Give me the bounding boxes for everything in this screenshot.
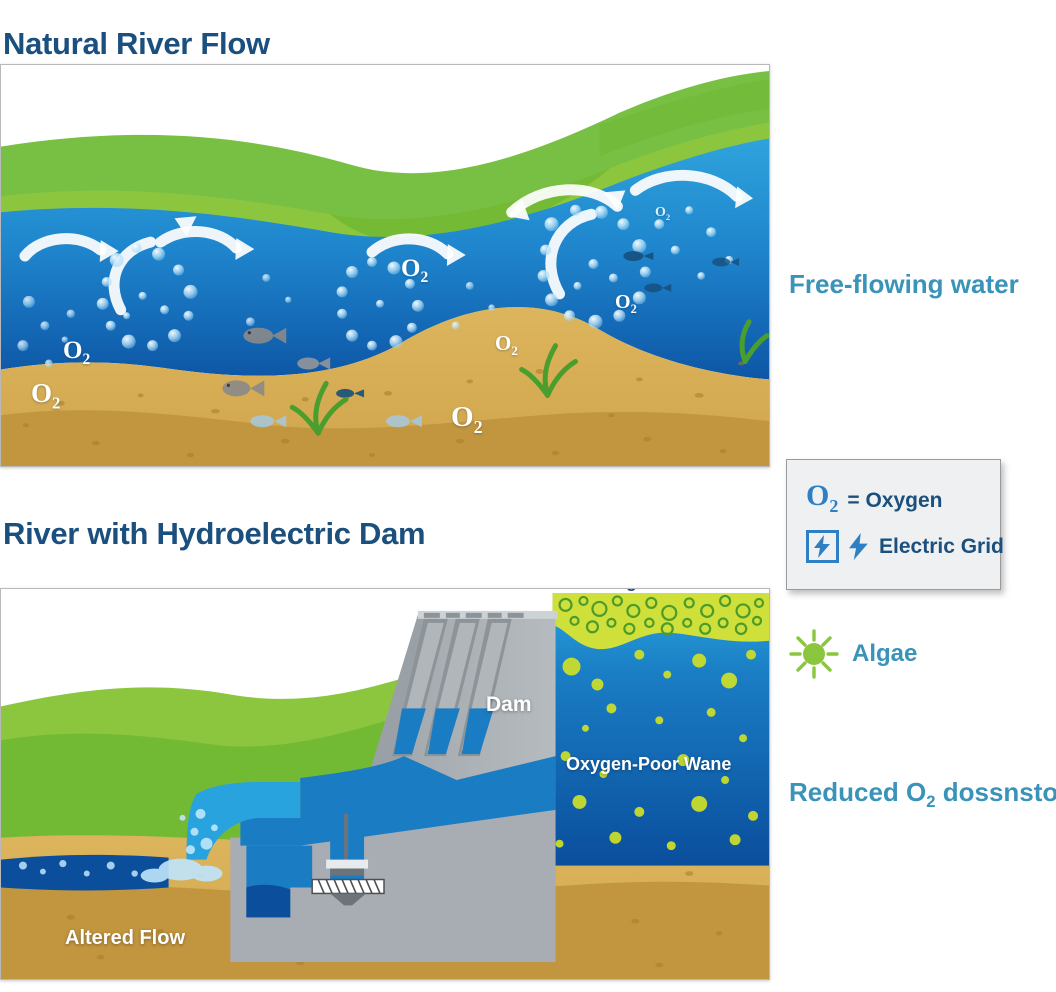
label-dam: Dam: [486, 693, 532, 717]
page-title-natural-river: Natural River Flow: [3, 26, 270, 62]
natural-river-svg: [1, 65, 769, 466]
legend-electric-grid-label: Electric Grid: [879, 535, 1004, 559]
legend-item-oxygen: O2 = Oxygen: [806, 481, 942, 521]
dam-scene-svg: [1, 589, 769, 979]
legend-algae-label: Algae: [852, 640, 917, 668]
legend-item-electric-grid: Electric Grid: [806, 530, 1004, 563]
label-algae-blooms: Algae Blooms: [608, 588, 728, 592]
label-oxygen-poor-water: Oxygen-Poor Wane: [566, 754, 731, 775]
electric-grid-box-icon: [806, 530, 839, 563]
lightning-bolt-icon: [848, 533, 870, 560]
legend-item-algae: Algae: [788, 628, 917, 680]
legend-oxygen-label: = Oxygen: [847, 489, 942, 513]
page-title-hydroelectric-dam: River with Hydroelectric Dam: [3, 516, 425, 552]
hydroelectric-dam-illustration: Algae Blooms Dam Oxygen-Poor Wane Altere…: [0, 588, 770, 980]
legend-box: O2 = Oxygen Electric Grid: [786, 459, 1001, 590]
o2-icon: O2: [806, 481, 838, 521]
label-altered-flow: Altered Flow: [65, 927, 185, 950]
generator-body: [330, 869, 364, 876]
dam-description-text: Reduced O2 dossnstow trapped heat & nutr…: [789, 700, 1056, 900]
draft-tube: [246, 885, 290, 918]
bolt-icon: [814, 535, 831, 558]
algae-sun-icon: [788, 628, 840, 680]
natural-river-illustration: O2 O2 O2 O2 O2 O2 O2: [0, 64, 770, 467]
dam-crest-details: [424, 613, 524, 618]
infographic-root: Natural River Flow: [0, 0, 1056, 992]
natural-description-text: Free-flowing water allows full O2 circul…: [789, 192, 1056, 352]
generator-plate: [326, 860, 368, 869]
